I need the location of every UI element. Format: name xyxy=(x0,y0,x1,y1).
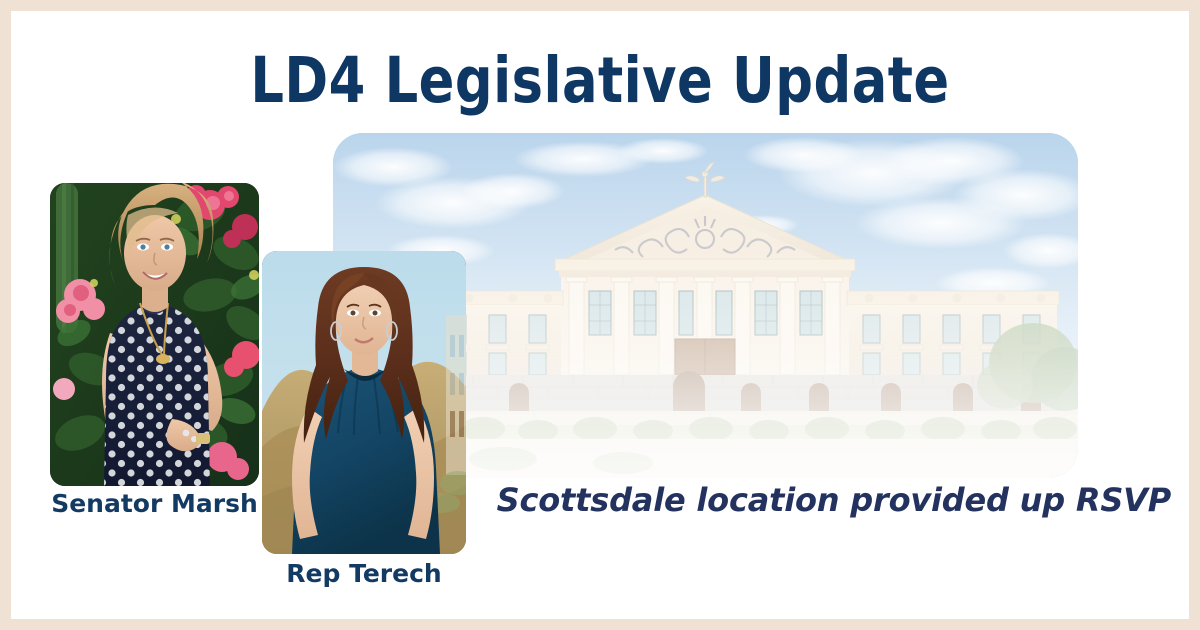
senator-marsh-name-label: Senator Marsh xyxy=(50,489,259,518)
rep-terech-name-label: Rep Terech xyxy=(262,559,466,588)
rep-terech-portrait xyxy=(262,251,466,554)
terech-portrait-illustration xyxy=(262,251,466,554)
event-caption: Scottsdale location provided up RSVP xyxy=(466,481,1171,519)
graphic-canvas: LD4 Legislative Update xyxy=(0,0,1200,630)
graphic-inner-panel: LD4 Legislative Update xyxy=(11,11,1189,619)
marsh-portrait-illustration xyxy=(50,183,259,486)
page-title: LD4 Legislative Update xyxy=(52,44,1148,117)
senator-marsh-portrait xyxy=(50,183,259,486)
